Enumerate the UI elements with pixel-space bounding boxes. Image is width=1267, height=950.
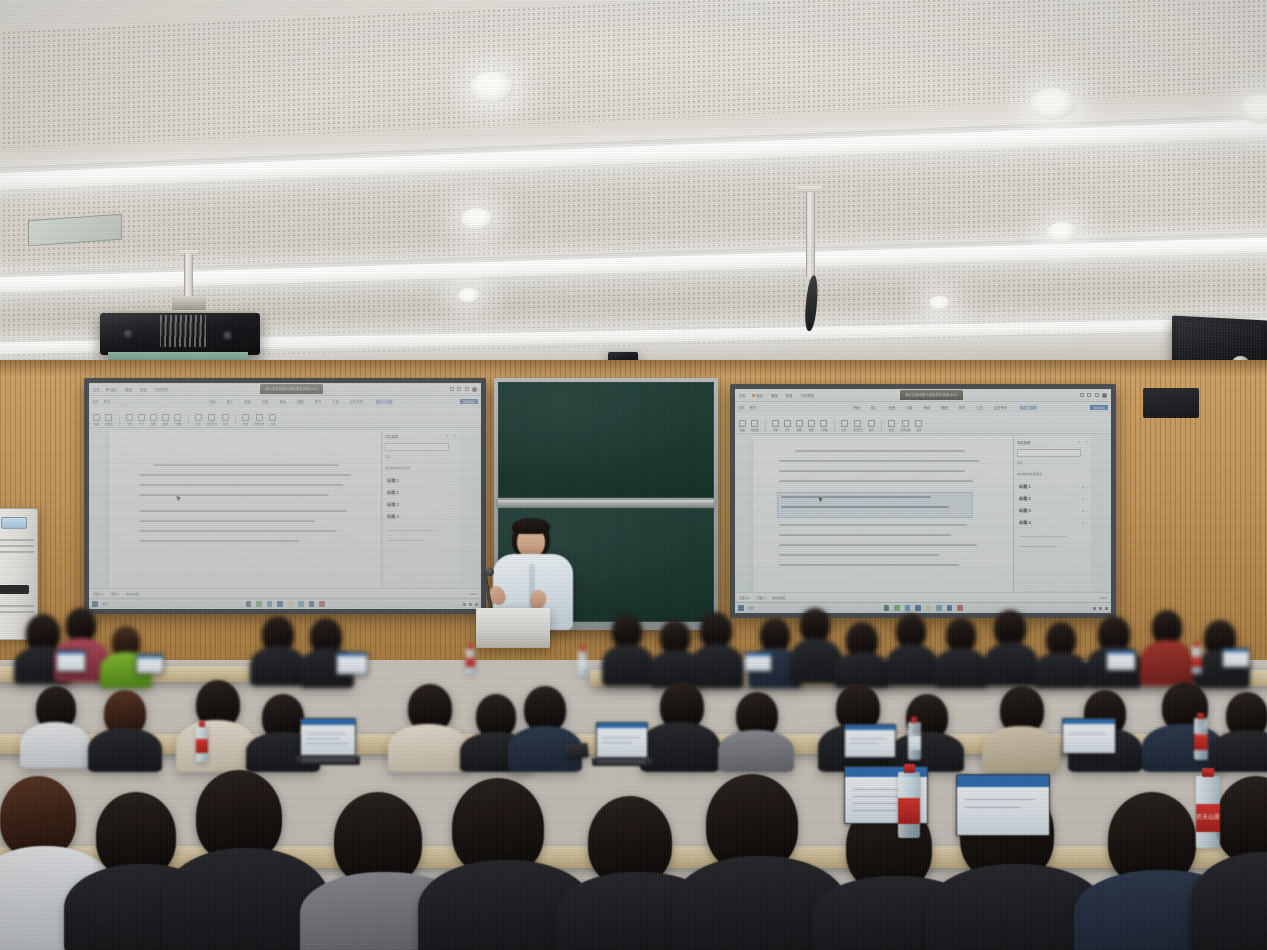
left-rb-number[interactable]: 编号 — [222, 414, 229, 426]
right-nav-tabs[interactable]: 目录 — [1017, 461, 1023, 465]
left-rb-paste[interactable]: 粘贴 — [93, 414, 100, 426]
right-nav-heading-2[interactable]: 标题 2 — [1019, 496, 1031, 502]
left-nav-chev-3[interactable]: ▸ — [450, 503, 452, 507]
right-rb-italic[interactable]: 倾斜 — [808, 420, 815, 432]
left-rb-bullet[interactable]: 项目符号 — [207, 414, 217, 426]
projector-lens-left-a — [122, 328, 135, 341]
styles-icon — [888, 420, 895, 427]
find-replace-icon — [256, 414, 263, 421]
bullet-list-icon — [854, 420, 861, 427]
right-navigation-pane[interactable]: 导航窗格 ▾ ✕ 目录 本文档中的标题目录 标题 1 ▸ 标题 2 ▸ 标题 3… — [1013, 436, 1091, 591]
left-quick-save[interactable]: 保存 — [104, 385, 119, 394]
italic-icon — [808, 420, 815, 427]
right-status-lang: 中文(中国) — [772, 596, 786, 600]
microphone-head — [486, 568, 494, 576]
left-nav-heading-4[interactable]: 标题 4 — [387, 514, 399, 520]
right-nav-heading-1[interactable]: 标题 1 — [1019, 484, 1031, 490]
numbered-list-icon — [868, 420, 875, 427]
downlight-2 — [1030, 88, 1076, 120]
align-icon — [195, 414, 202, 421]
water-bottle[interactable]: 农夫山泉 — [1196, 776, 1220, 848]
left-nav-chev-1[interactable]: ▸ — [450, 479, 452, 483]
right-nav-heading-3[interactable]: 标题 3 — [1019, 508, 1031, 514]
lecture-hall-photo: 文件 保存 撤销 恢复 打印预览 演示文稿讲解与排版规范说明.docx — [0, 0, 1267, 950]
left-tab-page[interactable]: 页面 — [244, 399, 251, 404]
left-nav-tabs[interactable]: 目录 — [385, 455, 391, 459]
left-navigation-pane[interactable]: 导航窗格 ▾ ✕ 目录 本文档中的标题目录 标题 1 ▸ 标题 2 ▸ 标题 3… — [381, 430, 459, 587]
left-share-button[interactable]: 查找替换 — [460, 399, 478, 404]
right-rb-select[interactable]: 选择 — [915, 420, 922, 432]
left-tab-insert[interactable]: 插入 — [227, 399, 234, 404]
paste-icon — [739, 420, 746, 427]
left-tab-member[interactable]: 会员专享 — [350, 399, 363, 404]
right-quick-undo[interactable]: 撤销 — [769, 391, 780, 400]
bold-icon — [150, 414, 157, 421]
right-rb-under[interactable]: 下划线 — [820, 420, 828, 432]
right-tab-smarttools[interactable]: 智能工具箱 — [1018, 405, 1038, 410]
underline-icon — [174, 414, 181, 421]
restore-icon[interactable] — [1087, 393, 1091, 397]
left-rb-styles[interactable]: 样式 — [242, 414, 249, 426]
paste-icon — [93, 414, 100, 421]
ac-vent-panel — [0, 585, 29, 594]
left-style-dropdown[interactable]: 样式 — [104, 399, 111, 404]
right-ribbon-tabs[interactable]: 文件 样式 开始 插入 页面 引用 审阅 视图 章节 工具 会员专享 智能工具箱… — [735, 402, 1111, 413]
downlight-4 — [461, 208, 493, 230]
bullet-list-icon — [208, 414, 215, 421]
right-tab-page[interactable]: 页面 — [888, 405, 895, 410]
format-painter-icon — [751, 420, 758, 427]
presenter-hair — [512, 518, 550, 534]
minimize-icon[interactable] — [450, 387, 454, 391]
right-quick-save[interactable]: 保存 — [750, 391, 765, 400]
left-tab-start[interactable]: 开始 — [209, 399, 216, 404]
right-tab-start[interactable]: 开始 — [853, 405, 860, 410]
right-screen-titlebar: 文件 保存 撤销 恢复 打印预览 演示文稿讲解与排版规范说明.docx — [735, 389, 1111, 402]
chalkboard-rail — [498, 500, 714, 507]
left-rb-align[interactable]: 对齐 — [195, 414, 202, 426]
select-icon — [915, 420, 922, 427]
wall-panel-right — [1143, 388, 1199, 418]
styles-icon — [242, 414, 249, 421]
close-icon[interactable] — [465, 387, 469, 391]
right-tab-view[interactable]: 视图 — [941, 405, 948, 410]
downlight-5 — [1047, 222, 1077, 243]
chalkboard-panel-top — [498, 382, 714, 498]
format-painter-icon — [105, 414, 112, 421]
left-quick-redo[interactable]: 恢复 — [138, 385, 149, 394]
right-rb-bullet[interactable]: 项目符号 — [853, 420, 863, 432]
select-icon — [269, 414, 276, 421]
right-quick-print[interactable]: 打印预览 — [799, 391, 817, 400]
bold-icon — [796, 420, 803, 427]
right-rb-format[interactable]: 格式刷 — [751, 420, 759, 432]
projector-pole-left — [184, 254, 193, 302]
font-icon — [772, 420, 779, 427]
left-nav-chev-4[interactable]: ▸ — [450, 515, 452, 519]
right-rb-paste[interactable]: 粘贴 — [739, 420, 746, 432]
right-status-words: 字数 0 — [757, 596, 765, 600]
left-rb-select[interactable]: 选择 — [269, 414, 276, 426]
right-style-dropdown[interactable]: 样式 — [750, 405, 757, 410]
right-document-page[interactable] — [753, 436, 1025, 594]
left-tab-section[interactable]: 章节 — [315, 399, 322, 404]
projector-mount-left — [172, 296, 206, 311]
right-file-menu[interactable]: 文件 — [739, 393, 746, 398]
right-tab-tools[interactable]: 工具 — [976, 405, 983, 410]
left-status-lang: 中文(中国) — [126, 592, 140, 596]
right-nav-chev-1[interactable]: ▸ — [1082, 485, 1084, 489]
left-rb-italic[interactable]: 倾斜 — [162, 414, 169, 426]
right-nav-title: 导航窗格 — [1017, 440, 1031, 445]
font-size-icon — [138, 414, 145, 421]
italic-icon — [162, 414, 169, 421]
close-icon[interactable]: ✕ — [453, 434, 456, 438]
close-icon[interactable] — [1095, 393, 1099, 397]
numbered-list-icon — [222, 414, 229, 421]
left-file-menu[interactable]: 文件 — [93, 387, 100, 392]
right-rb-find[interactable]: 查找替换 — [900, 420, 910, 432]
water-bottle[interactable] — [898, 772, 920, 838]
left-rb-font[interactable]: 字体 — [126, 414, 133, 426]
left-rb-bold[interactable]: 加粗 — [150, 414, 157, 426]
right-share-button[interactable]: 查找替换 — [1090, 405, 1108, 410]
left-projection-screen[interactable]: 文件 保存 撤销 恢复 打印预览 演示文稿讲解与排版规范说明.docx — [84, 378, 486, 614]
left-nav-heading-1[interactable]: 标题 1 — [387, 478, 399, 484]
left-rb-size[interactable]: 字号 — [138, 414, 145, 426]
left-status-words: 字数 0 — [111, 592, 119, 596]
left-window-controls[interactable] — [450, 387, 478, 392]
left-tab-tools[interactable]: 工具 — [332, 399, 339, 404]
projector-lens-left-b — [222, 330, 234, 342]
left-nav-chev-2[interactable]: ▸ — [450, 491, 452, 495]
left-tab-ref[interactable]: 引用 — [262, 399, 269, 404]
left-document-tab[interactable]: 演示文稿讲解与排版规范说明.docx — [260, 384, 323, 393]
left-tab-review[interactable]: 审阅 — [279, 399, 286, 404]
right-nav-chev-2[interactable]: ▸ — [1082, 497, 1084, 501]
avatar[interactable] — [1102, 393, 1107, 398]
right-tab-insert[interactable]: 插入 — [871, 405, 878, 410]
mic-pole — [806, 192, 815, 277]
right-rb-font[interactable]: 字体 — [772, 420, 779, 432]
left-rb-under[interactable]: 下划线 — [174, 414, 182, 426]
right-tab-ref[interactable]: 引用 — [906, 405, 913, 410]
right-tab-review[interactable]: 审阅 — [923, 405, 930, 410]
left-rt-lead-menu[interactable]: 文件 — [92, 399, 99, 404]
chevron-down-icon[interactable]: ▾ — [1078, 440, 1080, 444]
right-rb-align[interactable]: 对齐 — [841, 420, 848, 432]
left-tab-view[interactable]: 视图 — [297, 399, 304, 404]
left-quick-print[interactable]: 打印预览 — [153, 385, 171, 394]
left-ribbon-body[interactable]: 粘贴 格式刷 字体 字号 加粗 倾斜 下划线 对齐 项目符号 编号 样式 查找替… — [89, 407, 481, 428]
right-ribbon-body[interactable]: 粘贴 格式刷 字体 字号 加粗 倾斜 下划线 对齐 项目符号 编号 样式 查找替… — [735, 413, 1111, 434]
find-replace-icon — [902, 420, 909, 427]
left-nav-heading-3[interactable]: 标题 3 — [387, 502, 399, 508]
downlight-6 — [458, 288, 480, 303]
laptop-screen[interactable] — [956, 774, 1050, 836]
chevron-down-icon[interactable]: ▾ — [446, 434, 448, 438]
font-size-icon — [784, 420, 791, 427]
left-document-page[interactable] — [109, 430, 399, 590]
right-document-tab[interactable]: 演示文稿讲解与排版规范说明.docx — [900, 390, 963, 399]
projector-cables-left — [160, 315, 206, 347]
left-quick-undo[interactable]: 撤销 — [123, 385, 134, 394]
front-row-devices: 农夫山泉 — [0, 752, 1267, 862]
right-nav-search-input[interactable] — [1017, 449, 1081, 457]
left-status-bar: 页面 1/1 字数 0 中文(中国) 100% — [89, 588, 481, 598]
minimize-icon[interactable] — [1080, 393, 1084, 397]
left-status-zoom[interactable]: 100% — [470, 592, 477, 596]
right-tab-member[interactable]: 会员专享 — [994, 405, 1007, 410]
right-nav-chev-4[interactable]: ▸ — [1082, 521, 1084, 525]
underline-icon — [820, 420, 827, 427]
right-status-zoom[interactable]: 100% — [1100, 596, 1107, 600]
avatar[interactable] — [472, 387, 477, 392]
ac-display[interactable] — [1, 517, 27, 529]
right-status-page: 页面 1/1 — [739, 596, 750, 600]
right-window-controls[interactable] — [1080, 393, 1108, 398]
right-tab-section[interactable]: 章节 — [959, 405, 966, 410]
bottle-brand-label: 农夫山泉 — [1196, 804, 1220, 832]
left-nav-section-label: 本文档中的标题目录 — [385, 466, 410, 470]
right-rb-bold[interactable]: 加粗 — [796, 420, 803, 432]
close-icon[interactable]: ✕ — [1085, 440, 1088, 444]
right-projection-screen[interactable]: 文件 保存 撤销 恢复 打印预览 演示文稿讲解与排版规范说明.docx — [730, 384, 1116, 618]
left-tab-smarttools[interactable]: 智能工具箱 — [374, 399, 394, 404]
left-rb-find[interactable]: 查找替换 — [254, 414, 264, 426]
left-rb-format[interactable]: 格式刷 — [105, 414, 113, 426]
right-rb-number[interactable]: 编号 — [868, 420, 875, 432]
font-icon — [126, 414, 133, 421]
downlight-7 — [929, 296, 950, 310]
left-nav-search-input[interactable] — [385, 443, 449, 451]
right-nav-chev-3[interactable]: ▸ — [1082, 509, 1084, 513]
left-nav-heading-2[interactable]: 标题 2 — [387, 490, 399, 496]
left-nav-title: 导航窗格 — [385, 434, 399, 439]
right-quick-redo[interactable]: 恢复 — [784, 391, 795, 400]
downlight-1 — [470, 72, 514, 103]
right-nav-heading-4[interactable]: 标题 4 — [1019, 520, 1031, 526]
align-icon — [841, 420, 848, 427]
left-screen-titlebar: 文件 保存 撤销 恢复 打印预览 演示文稿讲解与排版规范说明.docx — [89, 383, 481, 396]
right-rb-size[interactable]: 字号 — [784, 420, 791, 432]
left-status-page: 页面 1/1 — [93, 592, 104, 596]
right-rt-lead-menu[interactable]: 文件 — [738, 405, 745, 410]
ceiling — [0, 0, 1267, 372]
left-ribbon-tabs[interactable]: 文件 样式 开始 插入 页面 引用 审阅 视图 章节 工具 会员专享 智能工具箱… — [89, 396, 481, 407]
restore-icon[interactable] — [457, 387, 461, 391]
right-nav-section-label: 本文档中的标题目录 — [1017, 472, 1042, 476]
right-rb-styles[interactable]: 样式 — [888, 420, 895, 432]
